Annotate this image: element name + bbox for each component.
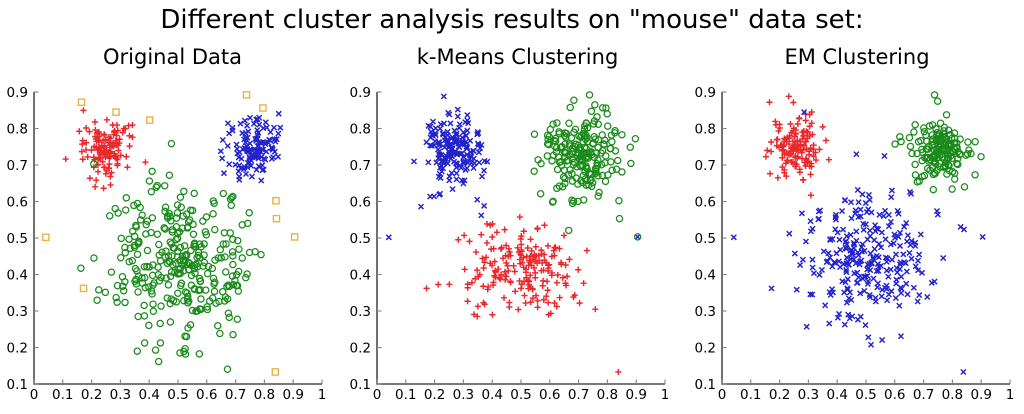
x-tick-label: 0.9 xyxy=(625,387,646,403)
data-point xyxy=(627,144,633,150)
y-tick-label: 0.7 xyxy=(695,158,716,174)
data-point xyxy=(521,292,527,298)
x-tick-label: 0.5 xyxy=(510,387,531,403)
data-point xyxy=(892,141,898,147)
y-tick-label: 0.3 xyxy=(350,304,371,320)
data-point xyxy=(275,154,280,159)
data-point xyxy=(525,245,531,251)
data-point xyxy=(632,136,638,142)
data-point xyxy=(505,268,511,274)
data-point xyxy=(820,124,826,130)
data-point xyxy=(198,296,204,302)
x-tick-label: 0.6 xyxy=(539,387,560,403)
data-point xyxy=(478,232,484,238)
x-tick-label: 0.7 xyxy=(568,387,589,403)
x-tick-label: 1 xyxy=(661,387,670,403)
data-point xyxy=(616,198,622,204)
x-tick-label: 0.3 xyxy=(453,387,474,403)
data-point xyxy=(168,141,174,147)
data-point xyxy=(455,114,460,119)
data-point xyxy=(239,255,245,261)
data-point xyxy=(894,281,899,286)
data-point xyxy=(907,250,912,255)
data-point xyxy=(479,174,484,179)
data-point xyxy=(271,125,276,130)
x-tick-label: 0.1 xyxy=(740,387,761,403)
x-tick-label: 0 xyxy=(373,387,382,403)
x-tick-label: 0.8 xyxy=(597,387,618,403)
y-tick-label: 0.4 xyxy=(7,268,28,284)
data-point xyxy=(604,111,610,117)
y-tick-label: 0.8 xyxy=(695,122,716,138)
data-point xyxy=(446,281,452,287)
data-point xyxy=(858,207,863,212)
data-point xyxy=(848,200,853,205)
data-point xyxy=(462,266,468,272)
data-point xyxy=(149,168,155,174)
data-point xyxy=(602,178,608,184)
scatter-plot-original-data[interactable]: 00.10.20.30.40.50.60.70.80.910.10.20.30.… xyxy=(0,0,345,414)
data-point xyxy=(605,123,611,129)
data-point xyxy=(135,313,141,319)
data-point xyxy=(273,198,279,204)
data-point xyxy=(63,156,69,162)
data-point xyxy=(83,125,89,131)
x-tick-label: 0.8 xyxy=(254,387,275,403)
data-point xyxy=(468,138,473,143)
data-point xyxy=(482,168,487,173)
subplot-kmeans-clustering: k-Means Clustering 00.10.20.30.40.50.60.… xyxy=(345,0,690,414)
x-tick-label: 0.3 xyxy=(798,387,819,403)
scatter-plot-em-clustering[interactable]: 00.10.20.30.40.50.60.70.80.910.10.20.30.… xyxy=(690,0,1024,414)
data-point xyxy=(905,292,910,297)
data-point xyxy=(911,129,917,135)
data-point xyxy=(464,298,470,304)
data-point xyxy=(540,283,546,289)
subplot-original-data: Original Data 00.10.20.30.40.50.60.70.80… xyxy=(0,0,345,414)
data-point xyxy=(873,299,878,304)
data-point xyxy=(518,285,524,291)
data-point xyxy=(872,246,877,251)
data-point xyxy=(912,172,918,178)
data-point xyxy=(917,252,922,257)
data-point xyxy=(571,97,577,103)
data-point xyxy=(777,125,783,131)
data-point xyxy=(260,105,266,111)
data-point xyxy=(854,152,859,157)
data-point xyxy=(961,184,967,190)
data-point xyxy=(79,141,85,147)
data-point xyxy=(895,270,900,275)
data-point xyxy=(80,285,86,291)
series-cluster-green-upper-right xyxy=(531,92,641,240)
y-tick-label: 0.4 xyxy=(695,268,716,284)
data-point xyxy=(915,258,920,263)
data-point xyxy=(810,257,815,262)
data-point xyxy=(564,273,570,279)
data-point xyxy=(843,197,848,202)
data-point xyxy=(819,267,824,272)
data-point xyxy=(494,229,500,235)
data-point xyxy=(108,269,114,275)
data-point xyxy=(211,288,217,294)
data-point xyxy=(821,249,826,254)
data-point xyxy=(125,122,131,128)
y-tick-label: 0.9 xyxy=(350,85,371,101)
y-tick-label: 0.9 xyxy=(695,85,716,101)
data-point xyxy=(904,281,909,286)
data-point xyxy=(535,304,541,310)
data-point xyxy=(473,249,479,255)
data-point xyxy=(905,233,910,238)
x-tick-label: 0.1 xyxy=(52,387,73,403)
data-point xyxy=(221,171,226,176)
data-point xyxy=(575,267,581,273)
data-point xyxy=(457,122,462,127)
data-point xyxy=(217,330,223,336)
data-point xyxy=(861,227,866,232)
y-tick-label: 0.9 xyxy=(7,85,28,101)
data-point xyxy=(259,178,264,183)
data-point xyxy=(237,174,242,179)
data-point xyxy=(124,164,130,170)
data-point xyxy=(156,241,162,247)
data-point xyxy=(222,254,228,260)
data-point xyxy=(498,246,504,252)
data-point xyxy=(244,123,249,128)
data-point xyxy=(76,128,82,134)
data-point xyxy=(534,225,540,231)
data-point xyxy=(141,302,147,308)
data-point xyxy=(837,237,842,242)
data-point xyxy=(804,324,809,329)
x-tick-label: 0.4 xyxy=(826,387,847,403)
y-tick-label: 0.5 xyxy=(695,231,716,247)
y-tick-label: 0.7 xyxy=(7,158,28,174)
x-tick-label: 0.2 xyxy=(424,387,445,403)
data-point xyxy=(533,244,539,250)
data-point xyxy=(795,121,801,127)
data-point xyxy=(797,166,803,172)
y-tick-label: 0.3 xyxy=(7,304,28,320)
data-point xyxy=(972,172,978,178)
data-point xyxy=(475,197,480,202)
data-point xyxy=(935,98,941,104)
data-point xyxy=(78,265,84,271)
y-tick-label: 0.3 xyxy=(695,304,716,320)
data-point xyxy=(426,160,431,165)
data-point xyxy=(230,253,236,259)
data-point xyxy=(769,286,774,291)
data-point xyxy=(91,255,97,261)
x-tick-label: 0.5 xyxy=(167,387,188,403)
data-point xyxy=(518,241,524,247)
data-point xyxy=(817,272,822,277)
data-point xyxy=(808,192,814,198)
data-point xyxy=(230,332,236,338)
data-point xyxy=(236,246,242,252)
data-point xyxy=(476,150,481,155)
data-point xyxy=(592,102,598,108)
data-point xyxy=(943,112,949,118)
data-point xyxy=(547,126,553,132)
axes-spines xyxy=(34,92,322,384)
data-point xyxy=(849,216,854,221)
data-point xyxy=(556,246,562,252)
series-cluster-green-right-ear xyxy=(892,92,984,193)
y-tick-label: 0.2 xyxy=(695,341,716,357)
data-point xyxy=(191,190,197,196)
data-point xyxy=(150,308,156,314)
series-cluster-red-lower-middle xyxy=(423,214,621,375)
data-point xyxy=(230,261,236,267)
x-tick-label: 0.2 xyxy=(81,387,102,403)
data-point xyxy=(764,147,770,153)
data-point xyxy=(886,274,891,279)
data-point xyxy=(93,177,99,183)
data-point xyxy=(868,342,873,347)
data-point xyxy=(792,251,797,256)
data-point xyxy=(438,126,443,131)
x-tick-label: 0.4 xyxy=(481,387,502,403)
data-point xyxy=(118,235,124,241)
data-point xyxy=(181,188,187,194)
data-point xyxy=(883,237,888,242)
data-point xyxy=(893,296,898,301)
data-point xyxy=(149,215,155,221)
data-point xyxy=(619,132,625,138)
data-point xyxy=(157,320,163,326)
data-point xyxy=(823,303,828,308)
data-point xyxy=(129,134,135,140)
data-point xyxy=(43,234,49,240)
data-point xyxy=(867,197,872,202)
data-point xyxy=(479,213,484,218)
x-tick-label: 0.7 xyxy=(913,387,934,403)
data-point xyxy=(225,143,230,148)
data-point xyxy=(898,334,903,339)
data-point xyxy=(278,125,283,130)
x-tick-label: 0 xyxy=(30,387,39,403)
data-point xyxy=(856,200,861,205)
data-point xyxy=(135,289,141,295)
data-point xyxy=(455,107,460,112)
data-point xyxy=(855,317,860,322)
data-point xyxy=(576,300,582,306)
data-point xyxy=(450,187,455,192)
data-point xyxy=(113,109,119,115)
y-tick-label: 0.2 xyxy=(350,341,371,357)
data-point xyxy=(220,137,225,142)
x-tick-label: 0.9 xyxy=(282,387,303,403)
data-point xyxy=(95,169,101,175)
data-point xyxy=(482,203,487,208)
data-point xyxy=(786,93,792,99)
data-point xyxy=(889,289,894,294)
data-point xyxy=(566,227,572,233)
data-point xyxy=(554,280,560,286)
data-point xyxy=(107,182,113,188)
y-tick-label: 0.6 xyxy=(7,195,28,211)
data-point xyxy=(177,194,183,200)
data-point xyxy=(840,209,845,214)
data-point xyxy=(146,322,152,328)
data-point xyxy=(501,295,507,301)
data-point xyxy=(243,171,248,176)
data-point xyxy=(865,237,870,242)
data-point xyxy=(961,369,966,374)
data-point xyxy=(102,289,108,295)
data-point xyxy=(234,142,239,147)
data-point xyxy=(134,348,140,354)
y-tick-label: 0.2 xyxy=(7,341,28,357)
data-point xyxy=(787,231,792,236)
data-point xyxy=(430,119,435,124)
data-point xyxy=(210,211,216,217)
data-point xyxy=(466,238,472,244)
data-point xyxy=(731,235,736,240)
data-point xyxy=(212,227,218,233)
data-point xyxy=(220,190,226,196)
data-point xyxy=(803,117,809,123)
data-point xyxy=(880,337,885,342)
data-point xyxy=(615,369,621,375)
data-point xyxy=(512,288,518,294)
data-point xyxy=(842,322,847,327)
data-point xyxy=(144,247,150,253)
data-point xyxy=(882,153,887,158)
data-point xyxy=(238,121,243,126)
data-point xyxy=(162,183,168,189)
data-point xyxy=(937,120,943,126)
data-point xyxy=(465,285,471,291)
data-point xyxy=(810,265,815,270)
x-axis-ticks: 00.10.20.30.40.50.60.70.80.91 xyxy=(373,380,670,404)
data-point xyxy=(854,229,859,234)
data-point xyxy=(608,159,614,165)
data-point xyxy=(152,347,158,353)
data-point xyxy=(517,214,523,220)
data-point xyxy=(142,340,148,346)
y-tick-label: 0.6 xyxy=(350,195,371,211)
data-point xyxy=(134,251,140,257)
data-point xyxy=(122,299,128,305)
data-point xyxy=(249,174,254,179)
data-point xyxy=(484,240,490,246)
data-point xyxy=(893,252,898,257)
data-point xyxy=(175,290,181,296)
data-point xyxy=(907,143,913,149)
data-point xyxy=(209,265,215,271)
subplot-em-clustering: EM Clustering 00.10.20.30.40.50.60.70.80… xyxy=(690,0,1024,414)
data-point xyxy=(464,166,469,171)
y-tick-label: 0.6 xyxy=(695,195,716,211)
y-tick-label: 0.1 xyxy=(7,377,28,393)
data-point xyxy=(841,227,846,232)
data-point xyxy=(78,99,84,105)
data-point xyxy=(511,263,517,269)
x-tick-label: 0.6 xyxy=(196,387,217,403)
data-point xyxy=(816,146,822,152)
data-point xyxy=(435,281,441,287)
data-point xyxy=(909,256,914,261)
data-point xyxy=(827,321,832,326)
data-point xyxy=(276,131,281,136)
data-point xyxy=(243,92,249,98)
data-point xyxy=(888,267,893,272)
data-point xyxy=(566,256,572,262)
data-point xyxy=(615,157,621,163)
data-point xyxy=(866,192,871,197)
data-point xyxy=(871,276,876,281)
data-point xyxy=(166,172,172,178)
data-point xyxy=(386,235,391,240)
data-point xyxy=(774,136,780,142)
data-point xyxy=(531,131,537,137)
series-left-ear-cluster xyxy=(63,107,149,191)
x-tick-label: 0.5 xyxy=(855,387,876,403)
data-point xyxy=(790,99,796,105)
data-point xyxy=(432,194,437,199)
data-point xyxy=(167,319,173,325)
data-point xyxy=(258,252,264,258)
figure-root: Different cluster analysis results on "m… xyxy=(0,0,1024,414)
data-point xyxy=(477,160,482,165)
y-tick-label: 0.5 xyxy=(7,231,28,247)
data-point xyxy=(581,280,587,286)
y-tick-label: 0.8 xyxy=(7,122,28,138)
scatter-plot-kmeans-clustering[interactable]: 00.10.20.30.40.50.60.70.80.910.10.20.30.… xyxy=(345,0,690,414)
data-point xyxy=(875,281,880,286)
data-point xyxy=(484,221,490,227)
data-point xyxy=(545,287,551,293)
data-point xyxy=(883,208,888,213)
data-point xyxy=(196,351,202,357)
data-point xyxy=(911,285,916,290)
data-point xyxy=(117,136,123,142)
data-point xyxy=(242,118,247,123)
data-point xyxy=(126,133,132,139)
y-tick-label: 0.5 xyxy=(350,231,371,247)
data-point xyxy=(915,299,920,304)
series-right-ear-cluster xyxy=(218,111,283,183)
data-point xyxy=(441,94,446,99)
data-point xyxy=(586,92,592,98)
data-point xyxy=(912,122,918,128)
data-point xyxy=(142,159,148,165)
data-point xyxy=(897,303,902,308)
data-point xyxy=(411,159,416,164)
data-point xyxy=(917,293,922,298)
data-point xyxy=(272,369,278,375)
data-point xyxy=(798,262,803,267)
data-point xyxy=(225,310,231,316)
data-point xyxy=(863,323,868,328)
y-tick-label: 0.1 xyxy=(695,377,716,393)
data-point xyxy=(877,212,882,217)
data-point xyxy=(581,197,587,203)
x-tick-label: 0.2 xyxy=(769,387,790,403)
data-point xyxy=(808,219,813,224)
data-point xyxy=(123,207,129,213)
data-point xyxy=(826,251,831,256)
data-point xyxy=(898,243,903,248)
data-point xyxy=(447,178,452,183)
x-tick-label: 0.1 xyxy=(395,387,416,403)
series-cluster-blue-upper-left xyxy=(386,94,640,240)
data-point xyxy=(158,303,164,309)
x-axis-ticks: 00.10.20.30.40.50.60.70.80.91 xyxy=(30,380,327,404)
